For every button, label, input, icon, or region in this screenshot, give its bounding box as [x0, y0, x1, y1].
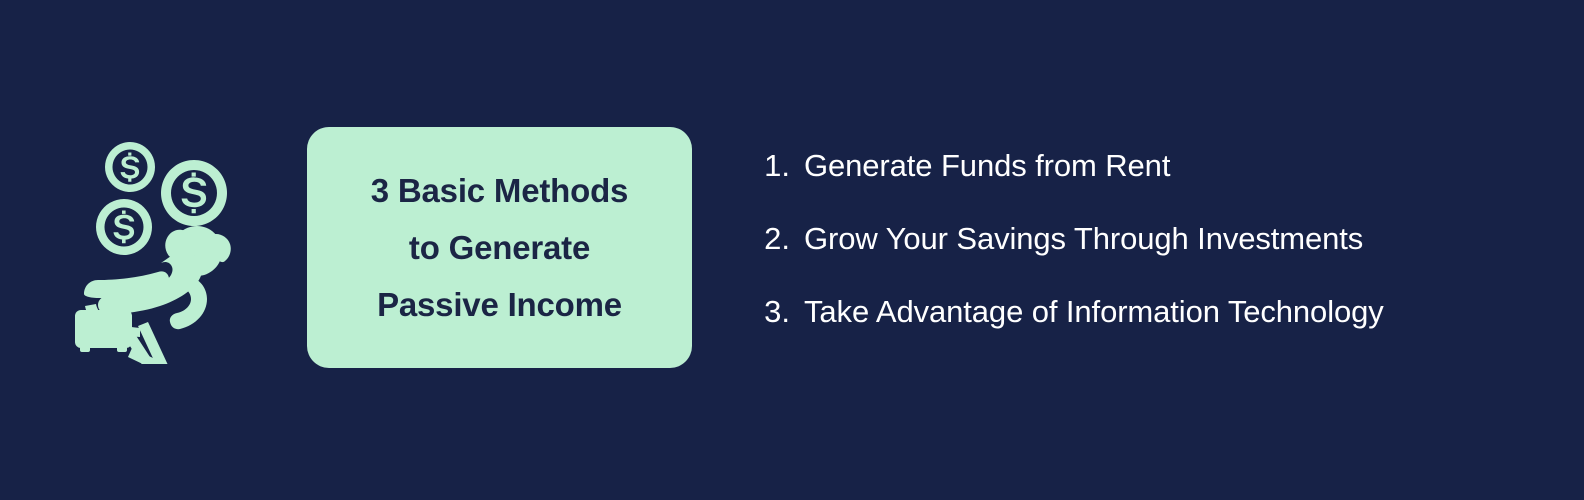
title-line-3: Passive Income — [377, 276, 622, 333]
dollar-coin-small-bottom-icon — [96, 199, 152, 255]
list-item-label: Take Advantage of Information Technology — [804, 294, 1384, 330]
dollar-coin-small-top-icon — [105, 142, 155, 192]
infographic-canvas: 3 Basic Methods to Generate Passive Inco… — [0, 0, 1584, 500]
methods-list: 1. Generate Funds from Rent 2. Grow Your… — [748, 148, 1548, 367]
list-item-number: 2. — [748, 221, 790, 257]
list-item-number: 3. — [748, 294, 790, 330]
title-line-2: to Generate — [409, 219, 590, 276]
list-item-label: Generate Funds from Rent — [804, 148, 1170, 184]
dollar-coin-large-icon — [161, 160, 227, 226]
list-item: 3. Take Advantage of Information Technol… — [748, 294, 1548, 367]
list-item-number: 1. — [748, 148, 790, 184]
passive-income-illustration — [66, 126, 256, 364]
title-card: 3 Basic Methods to Generate Passive Inco… — [307, 127, 692, 368]
side-table-cube-icon — [75, 310, 132, 352]
list-item-label: Grow Your Savings Through Investments — [804, 221, 1363, 257]
title-line-1: 3 Basic Methods — [371, 162, 628, 219]
list-item: 1. Generate Funds from Rent — [748, 148, 1548, 221]
list-item: 2. Grow Your Savings Through Investments — [748, 221, 1548, 294]
